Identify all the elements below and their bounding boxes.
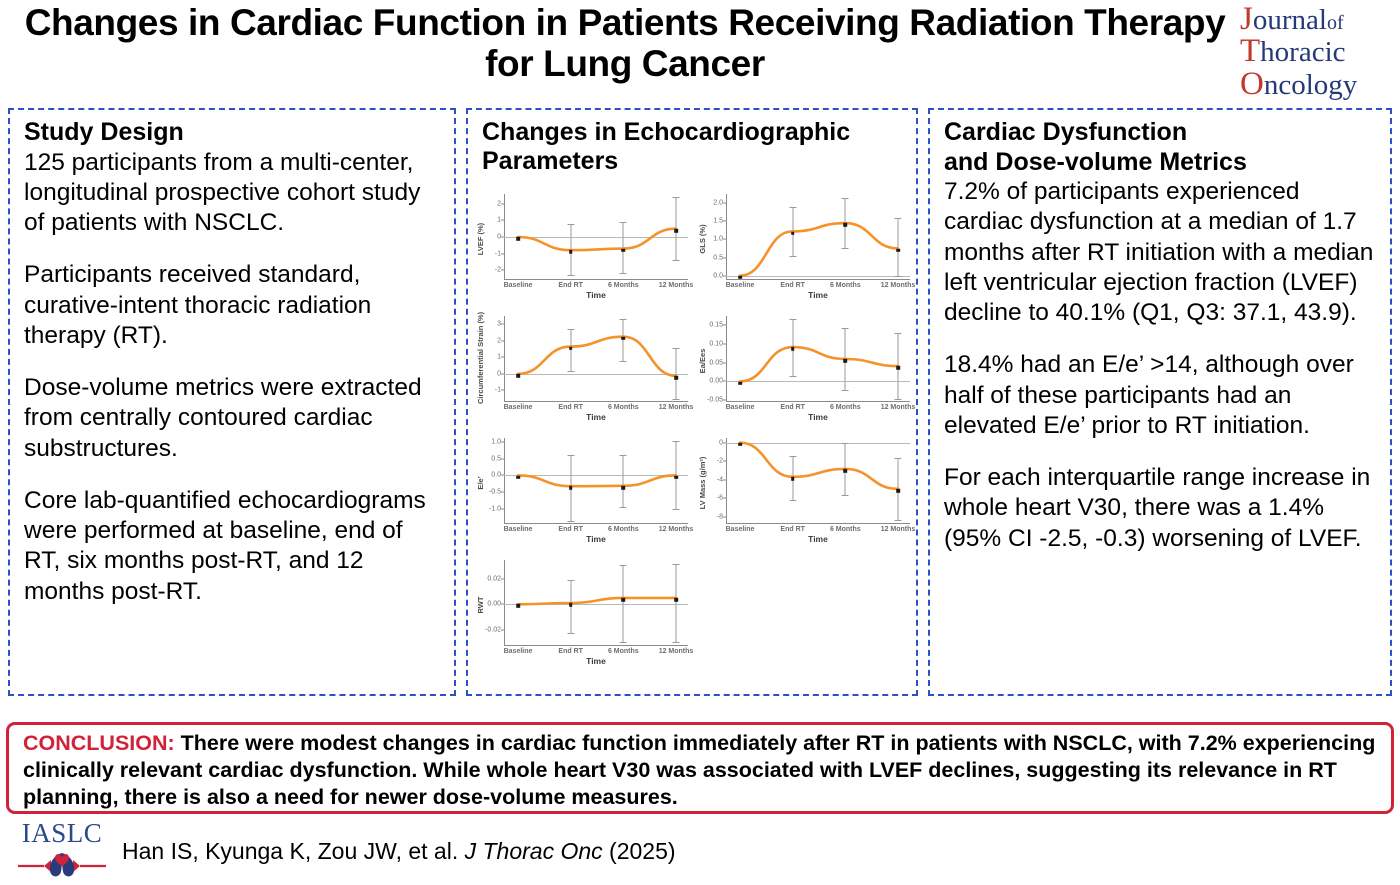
chart-lvef-data-point [516,237,520,241]
panel-left-heading: Study Design [24,118,444,147]
logo-line-journal-of: Journalof [1240,3,1392,35]
chart-lv-mass-xtick: Baseline [726,526,755,533]
chart-circ-strain: Circumferential Strain (%)3210-1Baseline… [474,312,692,430]
chart-ea-ees-ytick: 0.10 [709,341,723,348]
chart-gls: GLS (%)2.01.51.00.50.0BaselineEnd RT6 Mo… [696,190,914,308]
visual-abstract-poster: Changes in Cardiac Function in Patients … [0,0,1400,885]
chart-circ-strain-xtick: Baseline [504,404,533,411]
chart-circ-strain-ylabel: Circumferential Strain (%) [476,318,490,404]
chart-e-over-e-prime-ytick: -1.0 [489,505,501,512]
chart-rwt-xtick: End RT [558,648,583,655]
chart-lvef-plot-area: 210-1-2BaselineEnd RT6 Months12 Months [504,194,688,280]
chart-gls-plot-area: 2.01.51.00.50.0BaselineEnd RT6 Months12 … [726,194,910,280]
chart-ea-ees-series-line [726,316,910,402]
logo-text-of: of [1327,12,1344,34]
page-title: Changes in Cardiac Function in Patients … [20,2,1230,85]
chart-e-over-e-prime-xtick: Baseline [504,526,533,533]
study-design-paragraph-4: Core lab-quantified echocardiograms were… [24,486,444,607]
logo-text-ournal: ournal [1253,4,1327,36]
panel-left-body: 125 participants from a multi-center, lo… [24,148,444,607]
chart-e-over-e-prime-xtick: 12 Months [659,526,694,533]
chart-e-over-e-prime-data-point [516,475,520,479]
chart-circ-strain-xlabel: Time [504,412,688,422]
chart-lvef-data-point [674,229,678,233]
chart-lvef-xtick: 12 Months [659,282,694,289]
echo-parameter-chart-grid: LVEF (%)210-1-2BaselineEnd RT6 Months12 … [474,190,914,690]
chart-lv-mass-series-line [726,438,910,524]
chart-lvef-ylabel: LVEF (%) [476,196,490,282]
chart-ea-ees-xtick: 6 Months [830,404,861,411]
chart-gls-data-point [791,231,795,235]
chart-gls-ytick: 0.5 [713,254,723,261]
chart-lv-mass-data-point [896,489,900,493]
chart-gls-ylabel: GLS (%) [698,196,712,282]
chart-e-over-e-prime-ytick: 0.5 [491,455,501,462]
chart-rwt-plot-area: 0.020.00-0.02BaselineEnd RT6 Months12 Mo… [504,560,688,646]
iaslc-label: IASLC [10,820,114,847]
chart-e-over-e-prime-ytick: 1.0 [491,439,501,446]
chart-e-over-e-prime-xtick: 6 Months [608,526,639,533]
chart-gls-xlabel: Time [726,290,910,300]
chart-e-over-e-prime: E/e’1.00.50.0-0.5-1.0BaselineEnd RT6 Mon… [474,434,692,552]
chart-e-over-e-prime-xlabel: Time [504,534,688,544]
chart-circ-strain-xtick: End RT [558,404,583,411]
citation-journal: J Thorac Onc [465,838,603,864]
chart-rwt-ytick: -0.02 [485,626,501,633]
chart-lv-mass-plot-area: 0-2-4-6-8BaselineEnd RT6 Months12 Months [726,438,910,524]
chart-gls-data-point [896,248,900,252]
chart-lv-mass-data-point [791,477,795,481]
iaslc-lung-heart-icon [10,847,114,881]
chart-rwt-xtick: Baseline [504,648,533,655]
chart-rwt-data-point [569,603,573,607]
chart-ea-ees-data-point [791,347,795,351]
chart-gls-ytick: 2.0 [713,200,723,207]
citation: Han IS, Kyunga K, Zou JW, et al. J Thora… [122,838,676,865]
chart-rwt-xtick: 12 Months [659,648,694,655]
panel-study-design: Study Design 125 participants from a mul… [8,108,456,696]
chart-e-over-e-prime-series-line [504,438,688,524]
chart-ea-ees-ytick: 0.00 [709,378,723,385]
dysfunction-paragraph-1: 7.2% of participants experienced cardiac… [944,177,1380,328]
chart-circ-strain-data-point [569,347,573,351]
conclusion-label: CONCLUSION: [23,731,175,755]
chart-e-over-e-prime-data-point [569,486,573,490]
chart-rwt-data-point [516,604,520,608]
conclusion-body: There were modest changes in cardiac fun… [23,731,1375,809]
chart-ea-ees-data-point [896,366,900,370]
chart-ea-ees-ytick: 0.05 [709,359,723,366]
conclusion-text: CONCLUSION: There were modest changes in… [23,730,1379,811]
chart-ea-ees-xtick: 12 Months [881,404,916,411]
citation-year: (2025) [603,838,676,864]
chart-e-over-e-prime-xtick: End RT [558,526,583,533]
chart-ea-ees-data-point [844,359,848,363]
chart-e-over-e-prime-data-point [622,486,626,490]
chart-ea-ees-plot-area: 0.150.100.050.00-0.05BaselineEnd RT6 Mon… [726,316,910,402]
chart-rwt-xtick: 6 Months [608,648,639,655]
logo-cap-j: J [1240,1,1253,37]
chart-e-over-e-prime-ytick: 0.0 [491,472,501,479]
study-design-paragraph-2: Participants received standard, curative… [24,260,444,351]
poster-header: Changes in Cardiac Function in Patients … [0,0,1400,104]
journal-of-thoracic-oncology-logo: Journalof Thoracic Oncology [1240,3,1392,100]
chart-gls-ytick: 1.0 [713,236,723,243]
chart-e-over-e-prime-ytick: -0.5 [489,489,501,496]
chart-ea-ees-data-point [738,381,742,385]
chart-rwt-xlabel: Time [504,656,688,666]
citation-authors: Han IS, Kyunga K, Zou JW, et al. [122,838,465,864]
chart-rwt-data-point [622,598,626,602]
logo-text-horacic: horacic [1260,36,1345,68]
chart-circ-strain-xtick: 6 Months [608,404,639,411]
chart-lvef-xtick: 6 Months [608,282,639,289]
poster-footer: IASLC Han IS, Kyunga K, Zou JW, et al. J… [0,818,1400,885]
logo-line-oncology: Oncology [1240,68,1392,100]
chart-lvef-xtick: Baseline [504,282,533,289]
panel-right-heading-line2: and Dose-volume Metrics [944,148,1380,177]
chart-circ-strain-data-point [622,337,626,341]
chart-gls-data-point [738,276,742,280]
chart-gls-series-line [726,194,910,280]
panel-cardiac-dysfunction: Cardiac Dysfunction and Dose-volume Metr… [928,108,1392,696]
chart-e-over-e-prime-data-point [674,475,678,479]
chart-circ-strain-data-point [516,374,520,378]
study-design-paragraph-3: Dose-volume metrics were extracted from … [24,373,444,464]
chart-gls-ytick: 0.0 [713,272,723,279]
chart-gls-xtick: 12 Months [881,282,916,289]
panel-right-body: 7.2% of participants experienced cardiac… [944,177,1380,554]
logo-cap-o: O [1240,66,1264,102]
chart-rwt-ytick: 0.00 [487,601,501,608]
logo-line-thoracic: Thoracic [1240,35,1392,67]
dysfunction-paragraph-2: 18.4% had an E/e’ >14, although over hal… [944,350,1380,441]
chart-gls-xtick: End RT [780,282,805,289]
chart-gls-ytick: 1.5 [713,218,723,225]
chart-gls-xtick: Baseline [726,282,755,289]
chart-lvef-data-point [622,249,626,253]
chart-lvef-series-line [504,194,688,280]
chart-lv-mass-data-point [844,469,848,473]
chart-lv-mass-xtick: End RT [780,526,805,533]
chart-lv-mass-xtick: 6 Months [830,526,861,533]
chart-lv-mass-xlabel: Time [726,534,910,544]
chart-lv-mass-ylabel: LV Mass (g/m²) [698,440,712,526]
chart-circ-strain-data-point [674,376,678,380]
chart-ea-ees: Ea/Ees0.150.100.050.00-0.05BaselineEnd R… [696,312,914,430]
logo-cap-t: T [1240,33,1260,69]
chart-ea-ees-xlabel: Time [726,412,910,422]
chart-ea-ees-xtick: End RT [780,404,805,411]
chart-lv-mass: LV Mass (g/m²)0-2-4-6-8BaselineEnd RT6 M… [696,434,914,552]
chart-rwt-ytick: 0.02 [487,575,501,582]
chart-rwt-series-line [504,560,688,646]
chart-circ-strain-xtick: 12 Months [659,404,694,411]
chart-circ-strain-plot-area: 3210-1BaselineEnd RT6 Months12 Months [504,316,688,402]
iaslc-logo: IASLC [10,820,114,882]
conclusion-banner: CONCLUSION: There were modest changes in… [6,722,1394,814]
chart-ea-ees-xtick: Baseline [726,404,755,411]
chart-e-over-e-prime-plot-area: 1.00.50.0-0.5-1.0BaselineEnd RT6 Months1… [504,438,688,524]
chart-gls-data-point [844,223,848,227]
chart-ea-ees-ytick: -0.05 [707,397,723,404]
chart-rwt-data-point [674,598,678,602]
chart-lvef-xlabel: Time [504,290,688,300]
study-design-paragraph-1: 125 participants from a multi-center, lo… [24,148,444,239]
logo-text-ncology: ncology [1264,69,1357,101]
panel-center-heading: Changes in Echocardiographic Parameters [482,118,906,175]
chart-lv-mass-xtick: 12 Months [881,526,916,533]
chart-lvef-xtick: End RT [558,282,583,289]
chart-e-over-e-prime-ylabel: E/e’ [476,440,490,526]
chart-lvef-data-point [569,250,573,254]
chart-rwt: RWT0.020.00-0.02BaselineEnd RT6 Months12… [474,556,692,674]
dysfunction-paragraph-3: For each interquartile range increase in… [944,463,1380,554]
chart-circ-strain-series-line [504,316,688,402]
chart-ea-ees-ytick: 0.15 [709,322,723,329]
panel-right-heading-line1: Cardiac Dysfunction [944,118,1380,147]
chart-lv-mass-data-point [738,443,742,447]
chart-gls-xtick: 6 Months [830,282,861,289]
chart-lvef: LVEF (%)210-1-2BaselineEnd RT6 Months12 … [474,190,692,308]
